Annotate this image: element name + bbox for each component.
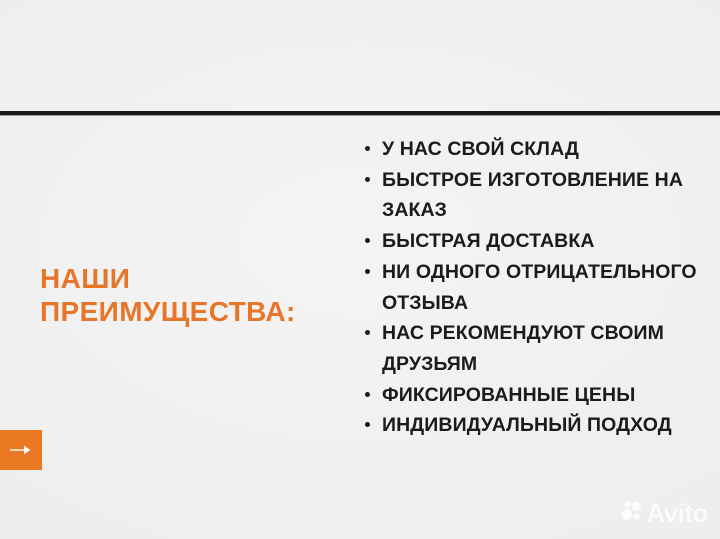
top-divider-rule bbox=[0, 111, 720, 115]
list-item: ИНДИВИДУАЛЬНЫЙ ПОДХОД bbox=[362, 410, 714, 441]
arrow-right-icon bbox=[10, 444, 32, 456]
list-item-label: ФИКСИРОВАННЫЕ ЦЕНЫ bbox=[382, 384, 635, 406]
bullet-icon bbox=[365, 330, 370, 335]
slide-canvas: НАШИ ПРЕИМУЩЕСТВА: У НАС СВОЙ СКЛАД БЫСТ… bbox=[0, 0, 720, 539]
next-slide-button[interactable] bbox=[0, 430, 42, 470]
page-title: НАШИ ПРЕИМУЩЕСТВА: bbox=[40, 262, 350, 328]
list-item-label: НИ ОДНОГО ОТРИЦАТЕЛЬНОГО ОТЗЫВА bbox=[382, 261, 697, 314]
list-item-label: У НАС СВОЙ СКЛАД bbox=[382, 138, 579, 160]
page-title-line-1: НАШИ bbox=[40, 262, 350, 295]
avito-watermark: Avito bbox=[620, 498, 708, 529]
list-item-label: НАС РЕКОМЕНДУЮТ СВОИМ ДРУЗЬЯМ bbox=[382, 322, 664, 375]
avito-wordmark: Avito bbox=[646, 498, 708, 529]
list-item-label: ИНДИВИДУАЛЬНЫЙ ПОДХОД bbox=[382, 414, 672, 436]
list-item: БЫСТРОЕ ИЗГОТОВЛЕНИЕ НА ЗАКАЗ bbox=[362, 165, 714, 226]
list-item: ФИКСИРОВАННЫЕ ЦЕНЫ bbox=[362, 380, 714, 411]
benefits-list: У НАС СВОЙ СКЛАД БЫСТРОЕ ИЗГОТОВЛЕНИЕ НА… bbox=[362, 134, 714, 441]
bullet-icon bbox=[365, 422, 370, 427]
bullet-icon bbox=[365, 238, 370, 243]
bullet-icon bbox=[365, 177, 370, 182]
list-item: БЫСТРАЯ ДОСТАВКА bbox=[362, 226, 714, 257]
bullet-icon bbox=[365, 269, 370, 274]
bullet-icon bbox=[365, 146, 370, 151]
list-item-label: БЫСТРАЯ ДОСТАВКА bbox=[382, 230, 595, 252]
list-item: НИ ОДНОГО ОТРИЦАТЕЛЬНОГО ОТЗЫВА bbox=[362, 257, 714, 318]
list-item-label: БЫСТРОЕ ИЗГОТОВЛЕНИЕ НА ЗАКАЗ bbox=[382, 169, 683, 222]
avito-dots-icon bbox=[620, 500, 642, 527]
page-title-line-2: ПРЕИМУЩЕСТВА: bbox=[40, 295, 350, 328]
list-item: НАС РЕКОМЕНДУЮТ СВОИМ ДРУЗЬЯМ bbox=[362, 318, 714, 379]
list-item: У НАС СВОЙ СКЛАД bbox=[362, 134, 714, 165]
bullet-icon bbox=[365, 392, 370, 397]
